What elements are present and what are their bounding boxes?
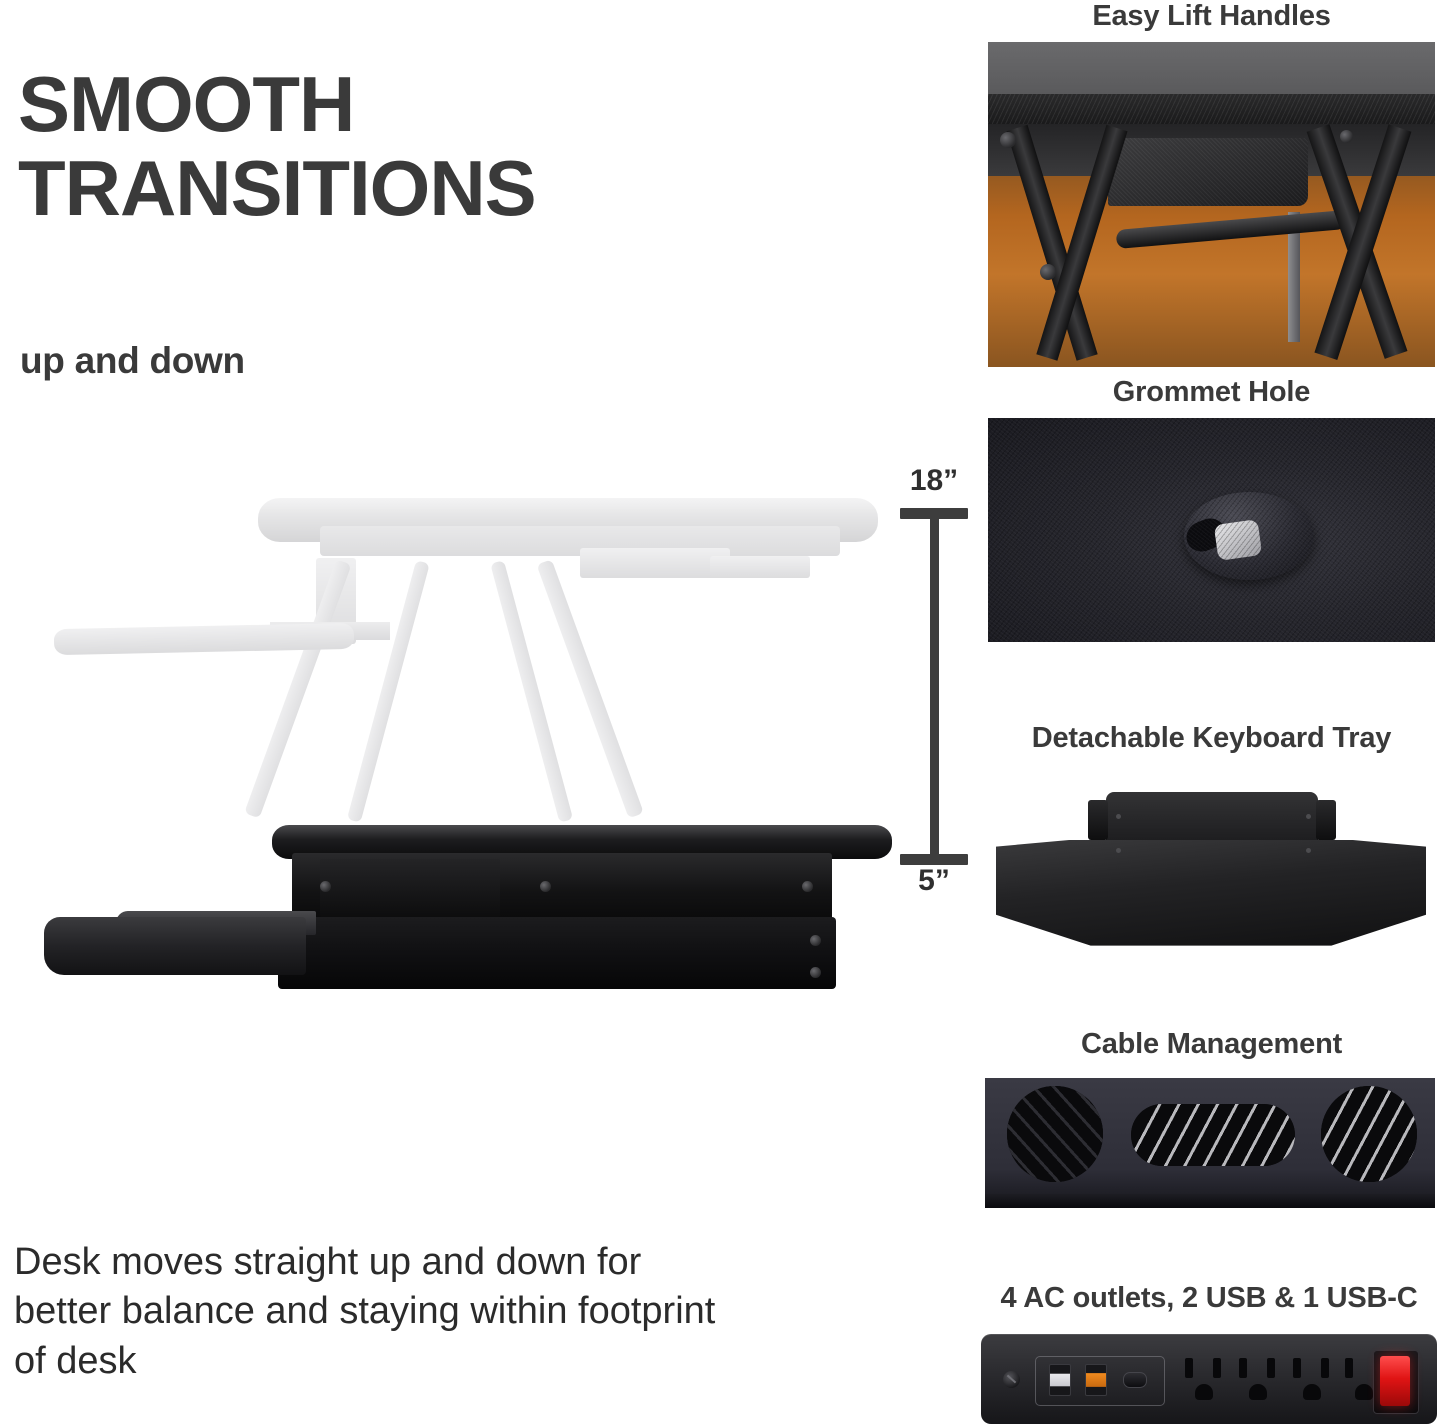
tray-bracket-right	[1316, 800, 1336, 840]
height-dimension-indicator: 18” 5”	[888, 470, 978, 910]
feature-label-easy-lift-handles: Easy Lift Handles	[988, 0, 1435, 33]
usb-c-port[interactable]	[1123, 1372, 1147, 1388]
grommet-cover-disc	[1184, 492, 1314, 580]
tray-screw	[1306, 848, 1311, 853]
ac-outlet-2[interactable]	[1227, 1356, 1289, 1406]
feature-image-easy-lift-handles	[988, 42, 1435, 367]
mounting-screw-left	[1003, 1371, 1020, 1388]
frame-screw	[810, 967, 821, 978]
feature-label-power-outlets: 4 AC outlets, 2 USB & 1 USB-C	[975, 1282, 1443, 1315]
outlet-slot	[1321, 1358, 1329, 1378]
ghost-scissor-arm-inner-a	[347, 560, 430, 822]
outlet-slot	[1213, 1358, 1221, 1378]
outlet-ground	[1195, 1384, 1213, 1400]
usb-a-fast-charge-port[interactable]	[1085, 1364, 1107, 1396]
desk-lowered-solid	[20, 825, 890, 1030]
feature-image-detachable-keyboard-tray	[988, 778, 1435, 1002]
ghost-scissor-arm-left	[244, 559, 351, 818]
power-switch[interactable]	[1380, 1356, 1410, 1406]
desktop-top-surface	[988, 42, 1435, 94]
headline-line-2: TRANSITIONS	[18, 146, 918, 230]
pivot-bolt	[1000, 132, 1016, 148]
dimension-stem	[930, 514, 939, 859]
panel-bottom-lip	[985, 1194, 1435, 1208]
frame-screw	[810, 935, 821, 946]
outlet-ground	[1355, 1384, 1373, 1400]
dimension-label-raised: 18”	[888, 464, 980, 498]
body-description: Desk moves straight up and down for bett…	[14, 1238, 734, 1386]
power-strip-body	[981, 1334, 1437, 1424]
ghost-cable-run	[710, 556, 810, 578]
frame-screw	[802, 881, 813, 892]
feature-label-grommet-hole: Grommet Hole	[988, 376, 1435, 409]
grommet-cable-slot	[1182, 514, 1230, 557]
frame-screw	[320, 881, 331, 892]
page-title: SMOOTH TRANSITIONS	[18, 62, 918, 230]
feature-image-power-strip	[975, 1332, 1443, 1426]
cable-cutout-right	[1321, 1086, 1417, 1182]
dimension-label-lowered: 5”	[888, 864, 980, 898]
desk-illustration	[20, 470, 890, 1030]
keyboard-tray	[44, 917, 306, 975]
tray-screw	[1306, 814, 1311, 819]
tray-screw	[1116, 814, 1121, 819]
outlet-ground	[1249, 1384, 1267, 1400]
cable-cutout-left	[1007, 1086, 1103, 1182]
feature-image-cable-management	[985, 1078, 1435, 1208]
cable-cutout-center	[1131, 1104, 1295, 1166]
feature-label-cable-management: Cable Management	[988, 1028, 1435, 1061]
infographic-canvas: SMOOTH TRANSITIONS up and down Desk move…	[0, 0, 1445, 1428]
headline-subtitle: up and down	[20, 340, 245, 382]
outlet-slot	[1239, 1358, 1247, 1378]
ghost-gas-spring	[580, 548, 730, 578]
feature-image-grommet-hole	[988, 418, 1435, 642]
base-frame	[278, 917, 836, 989]
feature-label-detachable-keyboard-tray: Detachable Keyboard Tray	[988, 722, 1435, 755]
keyboard-tray-surface	[996, 840, 1426, 950]
tray-screw	[1116, 848, 1121, 853]
pivot-bolt	[1040, 264, 1056, 280]
outlet-slot	[1267, 1358, 1275, 1378]
headline-line-1: SMOOTH	[18, 60, 354, 148]
ac-outlet-1[interactable]	[1173, 1356, 1235, 1406]
desktop-edge-band	[988, 94, 1435, 124]
coiled-cable	[1131, 1104, 1295, 1166]
outlet-slot	[1345, 1358, 1353, 1378]
tray-bracket-left	[1088, 800, 1108, 840]
outlet-slot	[1293, 1358, 1301, 1378]
lift-handle	[1108, 138, 1308, 206]
frame-screw	[540, 881, 551, 892]
outlet-ground	[1303, 1384, 1321, 1400]
coiled-cable	[1007, 1086, 1103, 1182]
pivot-bolt	[1340, 130, 1353, 143]
usb-a-port[interactable]	[1049, 1364, 1071, 1396]
coiled-cable	[1321, 1086, 1417, 1182]
outlet-slot	[1185, 1358, 1193, 1378]
lift-hardware-block	[320, 859, 500, 917]
grommet-pull-tab	[1214, 519, 1263, 561]
